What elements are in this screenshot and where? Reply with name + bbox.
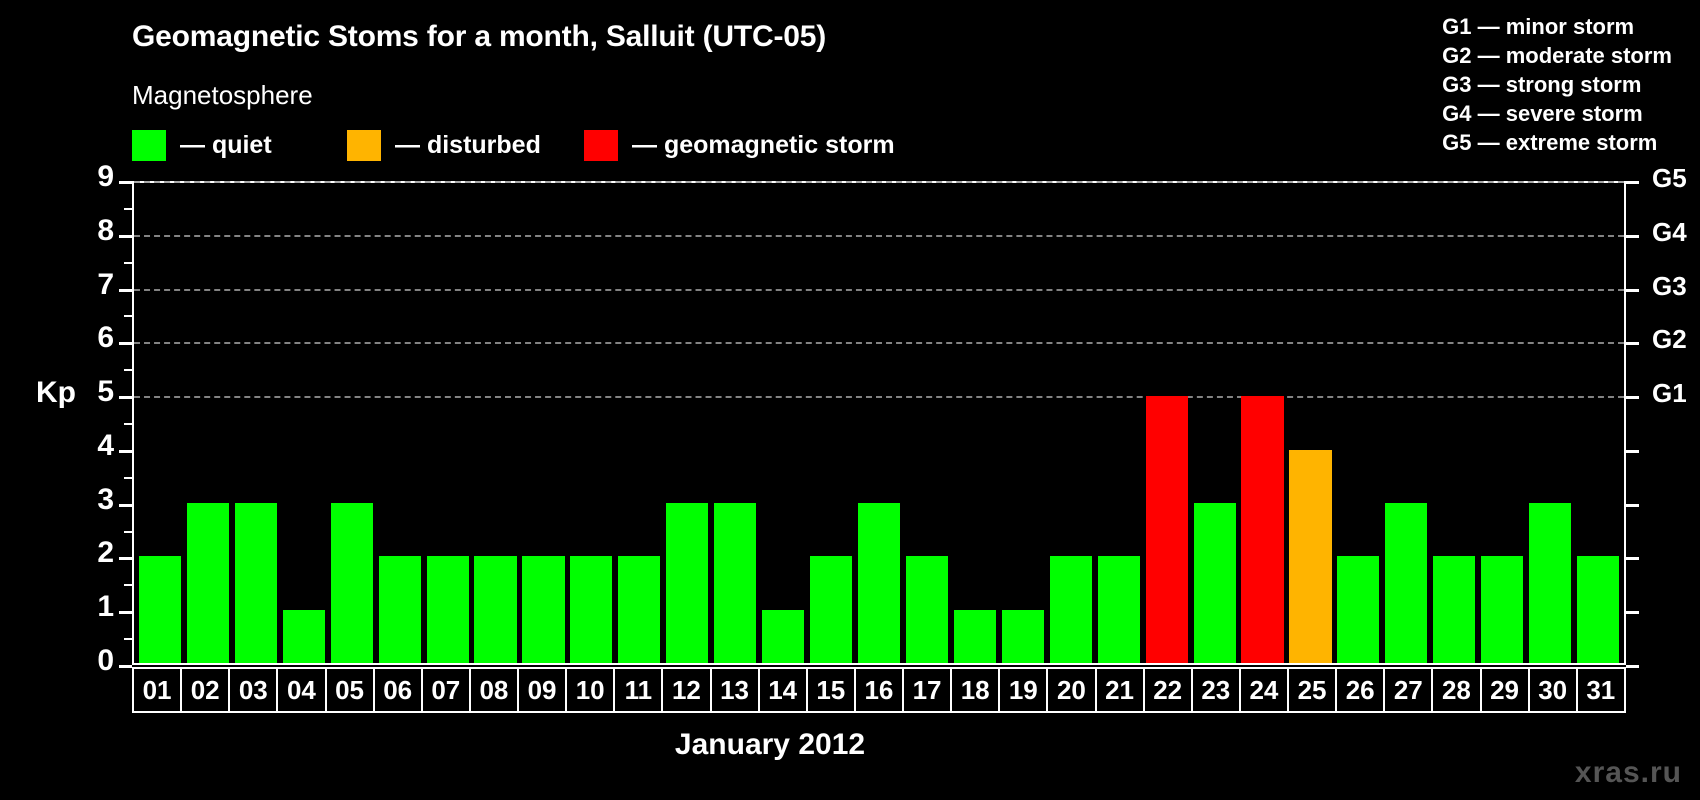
g-minor-tick [1626,342,1639,345]
legend-label-quiet: — quiet [180,131,272,160]
y-tick-label-9: 9 [74,160,114,194]
bar-day-13[interactable] [714,503,756,663]
bar-cell-18[interactable] [951,183,999,663]
bar-cell-26[interactable] [1334,183,1382,663]
g-legend-line-3: G3 — strong storm [1442,70,1672,99]
page-title: Geomagnetic Stoms for a month, Salluit (… [132,20,826,54]
day-label-17[interactable]: 17 [902,667,952,713]
g-legend-line-2: G2 — moderate storm [1442,41,1672,70]
bar-day-24[interactable] [1241,396,1283,663]
bar-cell-20[interactable] [1047,183,1095,663]
bar-day-18[interactable] [954,610,996,663]
bar-day-26[interactable] [1337,556,1379,663]
g-minor-tick [1626,665,1639,668]
bar-cell-12[interactable] [663,183,711,663]
bar-day-10[interactable] [570,556,612,663]
bar-day-04[interactable] [283,610,325,663]
day-label-21[interactable]: 21 [1095,667,1145,713]
y-tick-mark-6 [119,342,132,345]
bar-day-20[interactable] [1050,556,1092,663]
g-minor-tick [1626,181,1639,184]
bar-cell-03[interactable] [232,183,280,663]
day-label-01[interactable]: 01 [132,667,182,713]
g-minor-tick [1626,235,1639,238]
legend-item-disturbed: — disturbed [347,128,541,162]
legend-item-geomagnetic-storm: — geomagnetic storm [584,128,895,162]
bar-day-19[interactable] [1002,610,1044,663]
g-minor-tick [1626,396,1639,399]
y-tick-label-1: 1 [74,590,114,624]
x-axis-label-text: January 2012 [675,728,865,762]
bar-cell-15[interactable] [807,183,855,663]
y-tick-label-8: 8 [74,214,114,248]
day-label-09[interactable]: 09 [517,667,567,713]
bar-day-29[interactable] [1481,556,1523,663]
day-label-02[interactable]: 02 [180,667,230,713]
y-tick-label-2: 2 [74,536,114,570]
bar-day-28[interactable] [1433,556,1475,663]
bar-day-12[interactable] [666,503,708,663]
bar-cell-17[interactable] [903,183,951,663]
bar-cell-13[interactable] [711,183,759,663]
bar-cell-08[interactable] [472,183,520,663]
y-tick-mark-3 [119,504,132,507]
bar-day-07[interactable] [427,556,469,663]
bar-cell-24[interactable] [1239,183,1287,663]
g-tick-label-G1: G1 [1652,378,1687,409]
y-tick-label-5: 5 [74,375,114,409]
g-tick-label-G4: G4 [1652,217,1687,248]
day-label-31[interactable]: 31 [1576,667,1626,713]
day-label-24[interactable]: 24 [1239,667,1289,713]
g-minor-tick [1626,289,1639,292]
x-axis-label: January 2012 [0,728,1700,762]
g-scale-legend: G1 — minor stormG2 — moderate stormG3 — … [1442,12,1672,157]
day-label-20[interactable]: 20 [1046,667,1096,713]
day-label-11[interactable]: 11 [613,667,663,713]
bar-day-27[interactable] [1385,503,1427,663]
y-tick-mark-5 [119,396,132,399]
bar-day-14[interactable] [762,610,804,663]
bar-day-03[interactable] [235,503,277,663]
bar-cell-30[interactable] [1526,183,1574,663]
y-tick-label-7: 7 [74,268,114,302]
g-tick-label-G3: G3 [1652,271,1687,302]
g-tick-label-G2: G2 [1652,324,1687,355]
bar-cell-25[interactable] [1287,183,1335,663]
bar-cell-16[interactable] [855,183,903,663]
g-tick-label-G5: G5 [1652,163,1687,194]
bar-day-16[interactable] [858,503,900,663]
y-tick-label-3: 3 [74,483,114,517]
bar-cell-10[interactable] [567,183,615,663]
g-legend-line-4: G4 — severe storm [1442,99,1672,128]
bar-cell-21[interactable] [1095,183,1143,663]
day-label-26[interactable]: 26 [1335,667,1385,713]
y-tick-mark-8 [119,235,132,238]
bar-day-02[interactable] [187,503,229,663]
bar-cell-22[interactable] [1143,183,1191,663]
y-tick-label-6: 6 [74,321,114,355]
day-label-10[interactable]: 10 [565,667,615,713]
bar-cell-01[interactable] [136,183,184,663]
day-label-07[interactable]: 07 [421,667,471,713]
legend-label-disturbed: — disturbed [395,131,541,160]
y-minor-tick [124,208,132,210]
bar-day-08[interactable] [474,556,516,663]
day-label-19[interactable]: 19 [998,667,1048,713]
day-label-06[interactable]: 06 [373,667,423,713]
bar-day-01[interactable] [139,556,181,663]
y-tick-mark-7 [119,289,132,292]
bar-cell-09[interactable] [520,183,568,663]
day-label-14[interactable]: 14 [758,667,808,713]
plot-area [132,181,1626,665]
day-label-29[interactable]: 29 [1480,667,1530,713]
g-legend-line-1: G1 — minor storm [1442,12,1672,41]
g-minor-tick [1626,611,1639,614]
day-label-30[interactable]: 30 [1528,667,1578,713]
bar-cell-27[interactable] [1382,183,1430,663]
bar-cell-02[interactable] [184,183,232,663]
g-minor-tick [1626,450,1639,453]
bar-cell-06[interactable] [376,183,424,663]
y-axis-label: Kp [36,376,76,410]
y-tick-mark-2 [119,557,132,560]
bar-day-09[interactable] [522,556,564,663]
bar-day-31[interactable] [1577,556,1619,663]
legend-label-geomagnetic-storm: — geomagnetic storm [632,131,895,160]
y-minor-tick [124,369,132,371]
y-tick-label-0: 0 [74,644,114,678]
bar-cell-28[interactable] [1430,183,1478,663]
x-axis-day-labels: 0102030405060708091011121314151617181920… [132,667,1626,713]
legend-swatch-quiet [132,130,166,161]
bar-day-25[interactable] [1289,450,1331,663]
y-minor-tick [124,315,132,317]
day-label-23[interactable]: 23 [1191,667,1241,713]
bar-cell-07[interactable] [424,183,472,663]
y-minor-tick [124,423,132,425]
g-minor-tick [1626,504,1639,507]
day-label-16[interactable]: 16 [854,667,904,713]
day-label-15[interactable]: 15 [806,667,856,713]
day-label-12[interactable]: 12 [661,667,711,713]
bar-cell-31[interactable] [1574,183,1622,663]
bar-day-22[interactable] [1146,396,1188,663]
y-minor-tick [124,531,132,533]
day-label-13[interactable]: 13 [710,667,760,713]
day-label-28[interactable]: 28 [1431,667,1481,713]
legend-swatch-geomagnetic-storm [584,130,618,161]
day-label-18[interactable]: 18 [950,667,1000,713]
day-label-22[interactable]: 22 [1143,667,1193,713]
day-label-27[interactable]: 27 [1383,667,1433,713]
y-minor-tick [124,584,132,586]
watermark: xras.ru [1575,756,1682,790]
g-legend-line-5: G5 — extreme storm [1442,128,1672,157]
bar-cell-23[interactable] [1191,183,1239,663]
day-label-08[interactable]: 08 [469,667,519,713]
bar-cell-29[interactable] [1478,183,1526,663]
chart-root: Geomagnetic Stoms for a month, Salluit (… [0,0,1700,800]
chart-subtitle: Magnetosphere [132,80,313,111]
bar-cell-19[interactable] [999,183,1047,663]
day-label-25[interactable]: 25 [1287,667,1337,713]
day-label-04[interactable]: 04 [276,667,326,713]
bar-day-21[interactable] [1098,556,1140,663]
bar-day-11[interactable] [618,556,660,663]
y-minor-tick [124,638,132,640]
y-tick-label-4: 4 [74,429,114,463]
bar-day-23[interactable] [1194,503,1236,663]
bar-day-06[interactable] [379,556,421,663]
y-tick-mark-4 [119,450,132,453]
bar-cell-11[interactable] [615,183,663,663]
day-label-05[interactable]: 05 [325,667,375,713]
bar-cell-05[interactable] [328,183,376,663]
g-minor-tick [1626,557,1639,560]
y-tick-mark-9 [119,181,132,184]
bar-series [134,183,1624,663]
bar-cell-14[interactable] [759,183,807,663]
legend-swatch-disturbed [347,130,381,161]
bar-cell-04[interactable] [280,183,328,663]
y-tick-mark-1 [119,611,132,614]
legend-item-quiet: — quiet [132,128,272,162]
y-tick-mark-0 [119,665,132,668]
day-label-03[interactable]: 03 [228,667,278,713]
y-minor-tick [124,262,132,264]
bar-day-05[interactable] [331,503,373,663]
bar-day-17[interactable] [906,556,948,663]
bar-day-30[interactable] [1529,503,1571,663]
bar-day-15[interactable] [810,556,852,663]
y-minor-tick [124,477,132,479]
